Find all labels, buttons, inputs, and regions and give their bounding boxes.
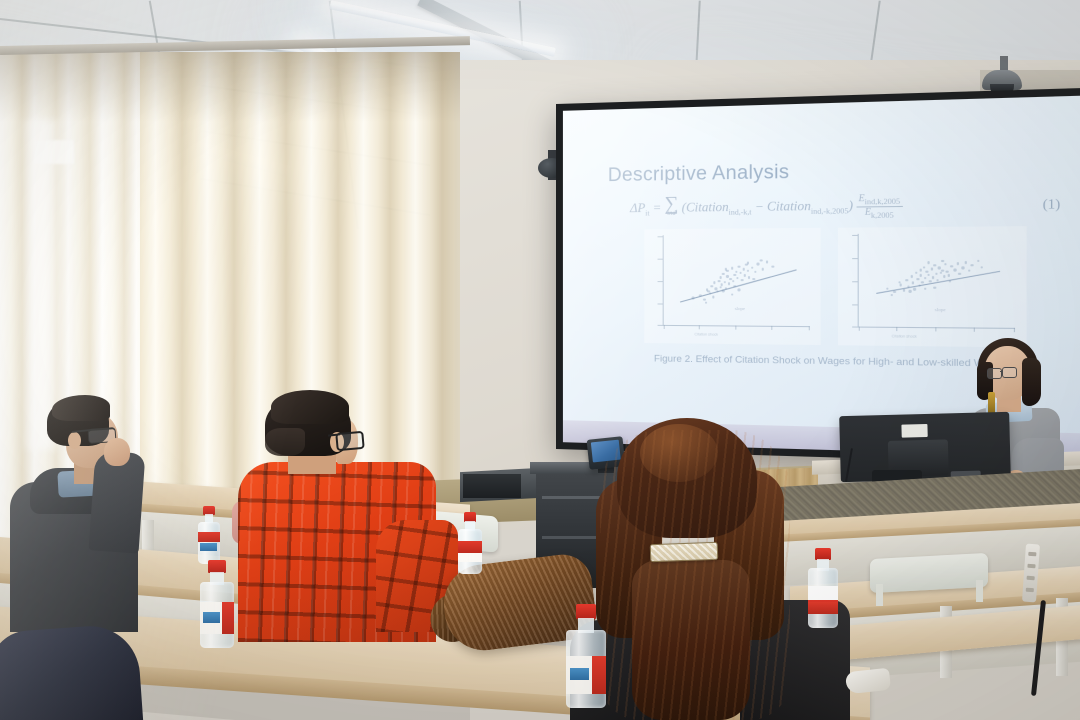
scatter-point bbox=[968, 270, 971, 273]
x-axis-tick bbox=[663, 325, 664, 329]
scatter-point bbox=[944, 263, 947, 266]
eq-term1: Citation bbox=[686, 200, 729, 215]
y-axis-tick bbox=[852, 281, 857, 282]
coat-on-chair bbox=[0, 623, 143, 720]
slide-equation-row: ΔPit = ∑ ind (Citationind,-k,t − Citatio… bbox=[608, 191, 1068, 222]
classroom-scene: Descriptive Analysis ΔPit = ∑ ind (Citat… bbox=[0, 0, 1080, 720]
y-axis-tick bbox=[657, 281, 662, 282]
scatter-point bbox=[977, 259, 980, 262]
y-axis-tick bbox=[657, 259, 662, 260]
scatter-point bbox=[961, 267, 964, 270]
scatter-point bbox=[924, 277, 927, 280]
scatter-point bbox=[926, 271, 929, 274]
scatter-point bbox=[738, 265, 741, 267]
scatter-point bbox=[923, 266, 926, 269]
bottle-label bbox=[458, 553, 482, 562]
scatter-point bbox=[971, 264, 974, 267]
water-bottle[interactable] bbox=[198, 506, 220, 564]
scatter-point bbox=[898, 281, 901, 284]
bottle-label-image bbox=[203, 612, 220, 623]
bottle-body bbox=[198, 522, 220, 564]
slide-figures: slopeCitation shock slopeCitation shock bbox=[608, 226, 1068, 348]
scatter-point bbox=[940, 271, 943, 274]
scatter-point bbox=[703, 298, 705, 300]
power-strip-socket bbox=[1028, 552, 1036, 557]
bottle-label-red bbox=[458, 541, 482, 553]
scatter-point bbox=[890, 294, 893, 297]
scatter-point bbox=[933, 286, 936, 289]
attendee-ponytail-hair-highlight bbox=[640, 424, 718, 482]
scatter-point bbox=[728, 282, 731, 284]
scatter-point bbox=[913, 288, 916, 291]
eq-term1-sub: ind,-k,t bbox=[729, 207, 752, 217]
scatter-point bbox=[731, 293, 734, 295]
scatter-point bbox=[748, 276, 751, 278]
x-axis-tick bbox=[808, 326, 809, 330]
scatter-plot-left: slopeCitation shock bbox=[644, 228, 820, 345]
chart-annotation: slope bbox=[735, 306, 745, 311]
power-strip-socket bbox=[1026, 588, 1034, 593]
y-axis-tick bbox=[852, 304, 857, 305]
bottle-label-image bbox=[200, 543, 217, 551]
scatter-point bbox=[757, 263, 760, 265]
scatter-point bbox=[941, 259, 944, 262]
scatter-plot-right: slopeCitation shock bbox=[837, 227, 1026, 348]
scatter-point bbox=[744, 274, 747, 276]
scatter-point bbox=[957, 262, 960, 265]
scatter-point bbox=[721, 283, 724, 285]
equation-number: (1) bbox=[1043, 196, 1061, 214]
scatter-point bbox=[747, 262, 750, 264]
scatter-point bbox=[906, 279, 909, 282]
eq-fraction: Eind,k,2005 Ek,2005 bbox=[856, 193, 902, 219]
scatter-point bbox=[760, 259, 763, 261]
scatter-point bbox=[927, 273, 930, 276]
scatter-point bbox=[912, 282, 915, 285]
y-axis-tick bbox=[657, 237, 662, 238]
chart-annotation: slope bbox=[935, 307, 946, 312]
scatter-point bbox=[732, 280, 735, 282]
y-axis-tick bbox=[657, 325, 662, 326]
attendee-ponytail-barrette bbox=[650, 542, 719, 562]
attendee-hoodie-hair-front bbox=[52, 395, 110, 421]
attendee-hoodie-ear bbox=[68, 432, 81, 449]
x-axis-tick bbox=[735, 326, 736, 330]
trend-line bbox=[680, 269, 796, 302]
eq-term2-sub: ind,-k,2005 bbox=[811, 206, 849, 216]
water-bottle[interactable] bbox=[458, 512, 482, 574]
presenter-hair-right bbox=[1022, 358, 1041, 406]
scatter-point bbox=[927, 261, 930, 264]
eq-lhs: ΔP bbox=[630, 201, 645, 215]
scatter-point bbox=[723, 281, 726, 283]
attendee-hoodie-hand bbox=[104, 438, 130, 466]
y-axis-tick bbox=[657, 303, 662, 304]
scatter-point bbox=[754, 271, 757, 273]
bottle-label-red bbox=[198, 532, 220, 542]
scatter-point bbox=[919, 274, 922, 277]
scatter-point bbox=[719, 276, 721, 278]
attendee-ponytail-tail bbox=[632, 560, 750, 720]
speaker-box bbox=[463, 474, 521, 498]
scatter-point bbox=[903, 289, 906, 292]
scatter-point bbox=[965, 261, 968, 264]
x-axis-tick bbox=[935, 328, 936, 332]
scatter-point bbox=[741, 279, 744, 281]
scatter-point bbox=[950, 265, 953, 268]
curtain-shadow bbox=[0, 52, 460, 122]
eq-frac-num-sub: ind,k,2005 bbox=[865, 196, 900, 206]
attendee-plaid-hair-top bbox=[271, 390, 349, 424]
scatter-point bbox=[735, 271, 738, 273]
scatter-point bbox=[722, 273, 725, 275]
scatter-point bbox=[761, 268, 764, 270]
x-axis-tick bbox=[858, 327, 859, 331]
bottle-label-red bbox=[222, 602, 234, 634]
presenter-glasses-left-lens bbox=[987, 368, 1002, 379]
bottle-label-image bbox=[570, 668, 589, 680]
scatter-point bbox=[734, 273, 737, 275]
y-axis-tick bbox=[852, 235, 857, 236]
attendee-plaid-hair-fade bbox=[265, 428, 305, 456]
tissue-on-shelf bbox=[845, 668, 891, 694]
eq-equals: = bbox=[653, 201, 662, 215]
scatter-point bbox=[712, 296, 714, 298]
x-axis-tick bbox=[974, 328, 975, 332]
y-axis-tick bbox=[852, 258, 857, 259]
scatter-point bbox=[924, 287, 927, 290]
bottle-cap bbox=[576, 604, 597, 619]
y-axis bbox=[857, 234, 858, 327]
monitor-label-sticker bbox=[901, 424, 927, 438]
x-axis-label: Citation shock bbox=[892, 335, 917, 339]
scatter-point bbox=[718, 280, 720, 282]
scatter-point bbox=[954, 269, 957, 272]
y-axis bbox=[662, 236, 663, 326]
scatter-point bbox=[747, 270, 750, 272]
scatter-point bbox=[910, 275, 913, 278]
scatter-point bbox=[705, 301, 707, 303]
eq-term2: Citation bbox=[767, 199, 811, 214]
eq-minus: − bbox=[755, 199, 764, 214]
bottle-body bbox=[566, 630, 606, 708]
desktop-monitor[interactable] bbox=[839, 412, 1011, 482]
scatter-point bbox=[899, 284, 902, 287]
eq-frac-den-sub: k,2005 bbox=[871, 210, 894, 220]
scatter-point bbox=[980, 266, 983, 269]
scatter-point bbox=[933, 264, 936, 267]
slide-equation: ΔPit = ∑ ind (Citationind,-k,t − Citatio… bbox=[630, 193, 902, 221]
x-axis-tick bbox=[1013, 328, 1014, 332]
x-axis-tick bbox=[699, 326, 700, 330]
scatter-point bbox=[751, 266, 754, 268]
scatter-point bbox=[919, 269, 922, 272]
scatter-point bbox=[915, 272, 918, 275]
power-strip-socket bbox=[1027, 576, 1035, 581]
scatter-point bbox=[742, 268, 745, 270]
bottle-body bbox=[808, 568, 838, 628]
power-strip-socket bbox=[1027, 564, 1035, 569]
bottle-label-red bbox=[808, 602, 838, 614]
bottle-body bbox=[458, 529, 482, 574]
water-bottle[interactable] bbox=[808, 548, 838, 628]
scatter-point bbox=[947, 274, 950, 277]
bottle-body bbox=[200, 582, 234, 648]
scatter-point bbox=[946, 271, 949, 274]
scatter-point bbox=[771, 265, 774, 267]
window-blind bbox=[34, 140, 74, 164]
trend-line bbox=[876, 270, 1000, 293]
scatter-point bbox=[921, 281, 924, 284]
water-bottle[interactable] bbox=[200, 560, 234, 648]
scatter-point bbox=[738, 289, 741, 291]
scatter-point bbox=[731, 267, 734, 269]
scatter-point bbox=[766, 261, 769, 263]
y-axis-tick bbox=[852, 327, 857, 328]
scatter-point bbox=[893, 291, 896, 294]
scatter-point bbox=[909, 290, 912, 293]
scatter-point bbox=[736, 277, 739, 279]
scatter-point bbox=[916, 278, 919, 281]
scatter-point bbox=[719, 286, 721, 288]
presenter-glasses-right-lens bbox=[1002, 367, 1017, 378]
x-axis-label: Citation shock bbox=[694, 333, 717, 337]
chair-post bbox=[876, 584, 883, 606]
scatter-point bbox=[943, 275, 946, 278]
water-bottle[interactable] bbox=[566, 604, 606, 708]
touch-panel-screen[interactable] bbox=[591, 440, 621, 463]
eq-sum-symbol: ∑ ind bbox=[665, 197, 679, 217]
slide-title: Descriptive Analysis bbox=[608, 156, 1068, 187]
scatter-point bbox=[886, 287, 889, 290]
podium-small-object bbox=[988, 392, 995, 414]
scatter-point bbox=[932, 276, 935, 279]
scatter-point bbox=[930, 268, 933, 271]
scatter-point bbox=[710, 285, 712, 287]
eq-lhs-sub: it bbox=[645, 208, 649, 217]
chair[interactable] bbox=[870, 553, 988, 593]
x-axis-tick bbox=[771, 326, 772, 330]
scatter-point bbox=[713, 282, 715, 284]
scatter-point bbox=[739, 272, 742, 274]
scatter-point bbox=[935, 272, 938, 275]
chair-post bbox=[976, 580, 983, 602]
eq-close-paren: ) bbox=[848, 198, 853, 213]
presenter-glasses-bridge bbox=[1000, 371, 1003, 372]
bottle-label-red bbox=[592, 656, 606, 694]
x-axis-tick bbox=[896, 327, 897, 331]
attendee-plaid-glasses bbox=[335, 431, 364, 451]
scatter-point bbox=[958, 272, 961, 275]
